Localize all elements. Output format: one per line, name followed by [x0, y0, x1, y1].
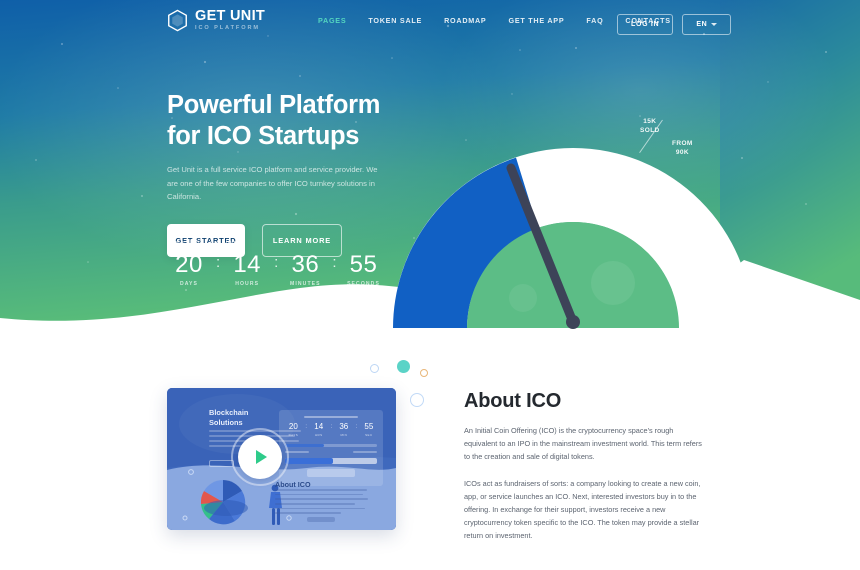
countdown-separator: : [211, 253, 225, 272]
play-button-core [238, 435, 282, 479]
ring-light-blue-large [410, 393, 424, 407]
nav-item-token-sale[interactable]: TOKEN SALE [368, 16, 422, 25]
mockup-countdown: 20DAYS : 14HRS : 36MIN : 55SEC [285, 423, 377, 437]
countdown-units: 20 DAYS : 14 HOURS : 36 MINUTES : 55 SEC… [167, 253, 386, 287]
countdown-hours: 14 HOURS [225, 253, 269, 287]
about-section: About ICO An Initial Coin Offering (ICO)… [464, 390, 702, 543]
countdown-separator: : [269, 253, 283, 272]
presale-countdown: Pre-sale is Live Now 20 DAYS : 14 HOURS … [167, 238, 386, 287]
nav-item-pages[interactable]: PAGES [318, 16, 346, 25]
sales-gauge-chart [383, 138, 763, 338]
about-paragraph-2: ICOs act as fundraisers of sorts: a comp… [464, 478, 702, 543]
countdown-minutes: 36 MINUTES [283, 253, 327, 287]
hero-copy: Powerful Platform for ICO Startups Get U… [167, 90, 427, 257]
sold-total: FROM 90K [672, 140, 693, 158]
sold-amount: 15K SOLD [640, 118, 660, 136]
countdown-label: Pre-sale is Live Now [167, 238, 386, 247]
countdown-separator: : [327, 253, 341, 272]
ring-orange-small [420, 369, 428, 377]
login-button-label: LOG IN [631, 21, 659, 28]
brand-tagline: ICO PLATFORM [195, 26, 265, 32]
nav-item-get-the-app[interactable]: GET THE APP [508, 16, 564, 25]
top-navigation-bar: GET UNIT ICO PLATFORM PAGES TOKEN SALE R… [0, 0, 860, 45]
page-title: Powerful Platform for ICO Startups [167, 90, 427, 152]
chevron-down-icon [711, 23, 717, 26]
countdown-seconds: 55 SECONDS [342, 253, 386, 287]
landing-page: 15K SOLD FROM 90K GET UNIT ICO PLATFORM [0, 0, 860, 570]
mockup-about-heading: About ICO [275, 480, 375, 489]
mockup-progress-labels [285, 451, 377, 453]
about-title: About ICO [464, 390, 702, 413]
brand-name: GET UNIT [195, 9, 265, 24]
hero-title-line-2: for ICO Startups [167, 122, 359, 150]
brand-text: GET UNIT ICO PLATFORM [195, 9, 265, 31]
language-label: EN [696, 21, 707, 28]
play-button[interactable] [231, 428, 289, 486]
nav-item-faq[interactable]: FAQ [586, 16, 603, 25]
hero-section: 15K SOLD FROM 90K GET UNIT ICO PLATFORM [0, 0, 860, 340]
about-paragraph-1: An Initial Coin Offering (ICO) is the cr… [464, 425, 702, 464]
circle-teal-filled [397, 360, 410, 373]
brand-logo[interactable]: GET UNIT ICO PLATFORM [167, 9, 265, 32]
play-icon [256, 450, 267, 464]
nav-item-roadmap[interactable]: ROADMAP [444, 16, 486, 25]
mockup-panel-title [304, 416, 358, 418]
countdown-days: 20 DAYS [167, 253, 211, 287]
gauge-sold-labels: 15K SOLD FROM 90K [634, 118, 724, 166]
hexagon-icon [167, 9, 188, 32]
language-selector[interactable]: EN [682, 14, 731, 35]
ring-light-blue-small [370, 364, 379, 373]
mockup-about-text [275, 489, 369, 517]
hero-title-line-1: Powerful Platform [167, 91, 380, 119]
nav-actions: LOG IN EN [617, 14, 731, 35]
hero-subtitle: Get Unit is a full service ICO platform … [167, 163, 379, 203]
login-button[interactable]: LOG IN [617, 14, 673, 35]
mockup-read-more-button [307, 517, 335, 522]
mockup-progress-bar [285, 444, 377, 447]
about-video-thumbnail[interactable]: Blockchain Solutions 20DAYS : 1 [167, 388, 396, 530]
